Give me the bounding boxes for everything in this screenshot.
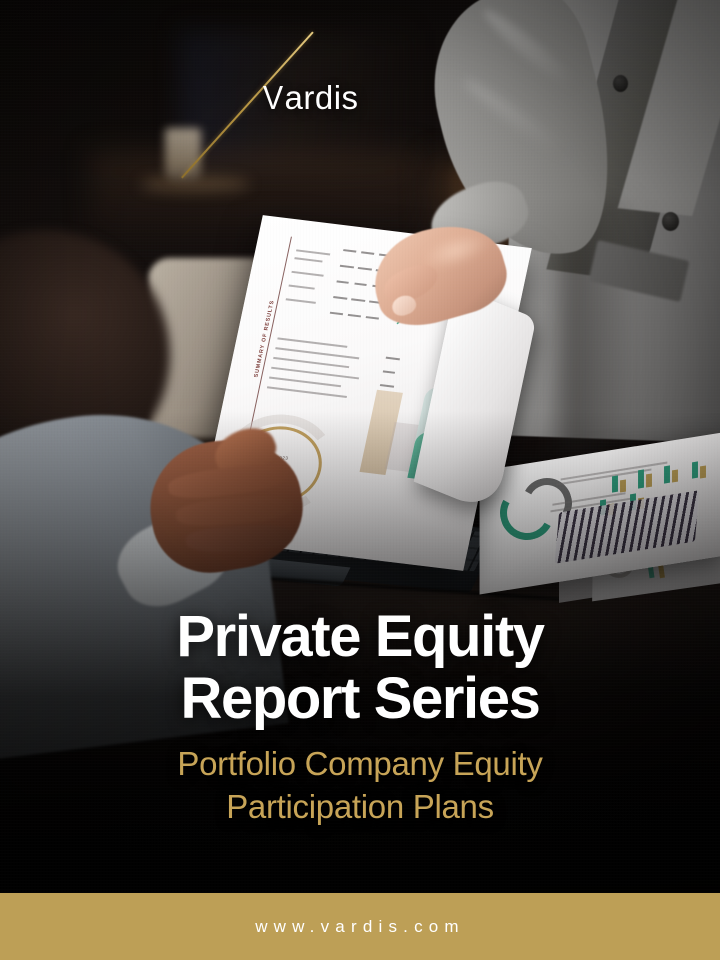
website-url[interactable]: www.vardis.com <box>255 917 465 937</box>
poster-canvas: SUMMARY OF RESULTS <box>0 0 720 960</box>
footer-bar: www.vardis.com <box>0 893 720 960</box>
title-line-2: Report Series <box>0 668 720 730</box>
subtitle-line-1: Portfolio Company Equity <box>0 742 720 785</box>
logo-wordmark: ardis <box>285 79 359 116</box>
title-block: Private Equity Report Series Portfolio C… <box>0 606 720 828</box>
title-line-1: Private Equity <box>0 606 720 668</box>
logo-initial: V <box>263 79 284 117</box>
subtitle-block: Portfolio Company Equity Participation P… <box>0 742 720 828</box>
subtitle-line-2: Participation Plans <box>0 785 720 828</box>
vardis-logo: Vardis <box>262 79 359 117</box>
